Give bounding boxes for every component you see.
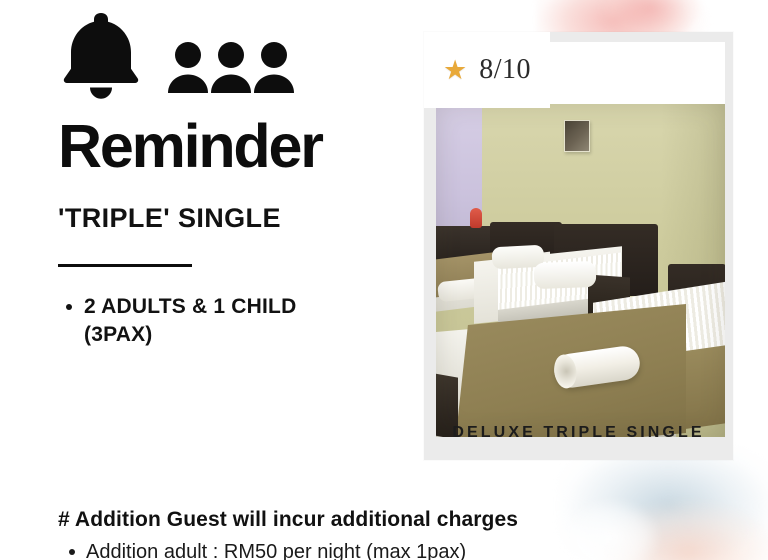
left-content-column: Reminder 'TRIPLE' SINGLE 2 ADULTS & 1 CH… [58, 14, 408, 348]
rating-value: 8/10 [479, 54, 531, 86]
bell-icon [58, 9, 144, 106]
photo-card: ★ 8/10 DELUXE TRIPLE SINGLE [424, 32, 733, 460]
occupancy-list: 2 ADULTS & 1 CHILD (3PAX) [58, 293, 408, 348]
room-type-subtitle: 'TRIPLE' SINGLE [58, 203, 408, 234]
icon-row [58, 14, 408, 106]
hotel-room-photo [436, 104, 725, 437]
notes-list: Addition adult : RM50 per night (max 1pa… [58, 539, 718, 560]
star-icon: ★ [443, 57, 467, 84]
list-item: 2 ADULTS & 1 CHILD (3PAX) [58, 293, 344, 348]
reminder-poster: Reminder 'TRIPLE' SINGLE 2 ADULTS & 1 CH… [0, 0, 768, 560]
table-lamp [470, 208, 482, 228]
photo-caption: DELUXE TRIPLE SINGLE [424, 424, 733, 442]
framed-picture [564, 120, 590, 152]
rating-badge: ★ 8/10 [424, 32, 550, 108]
bed-middle-pillow-front [534, 261, 597, 289]
additional-charges-notes: # Addition Guest will incur additional c… [58, 508, 718, 560]
notes-heading: # Addition Guest will incur additional c… [58, 508, 718, 532]
people-group-icon [166, 39, 296, 100]
list-item: Addition adult : RM50 per night (max 1pa… [58, 539, 718, 560]
divider [58, 264, 192, 267]
page-title: Reminder [58, 116, 408, 177]
